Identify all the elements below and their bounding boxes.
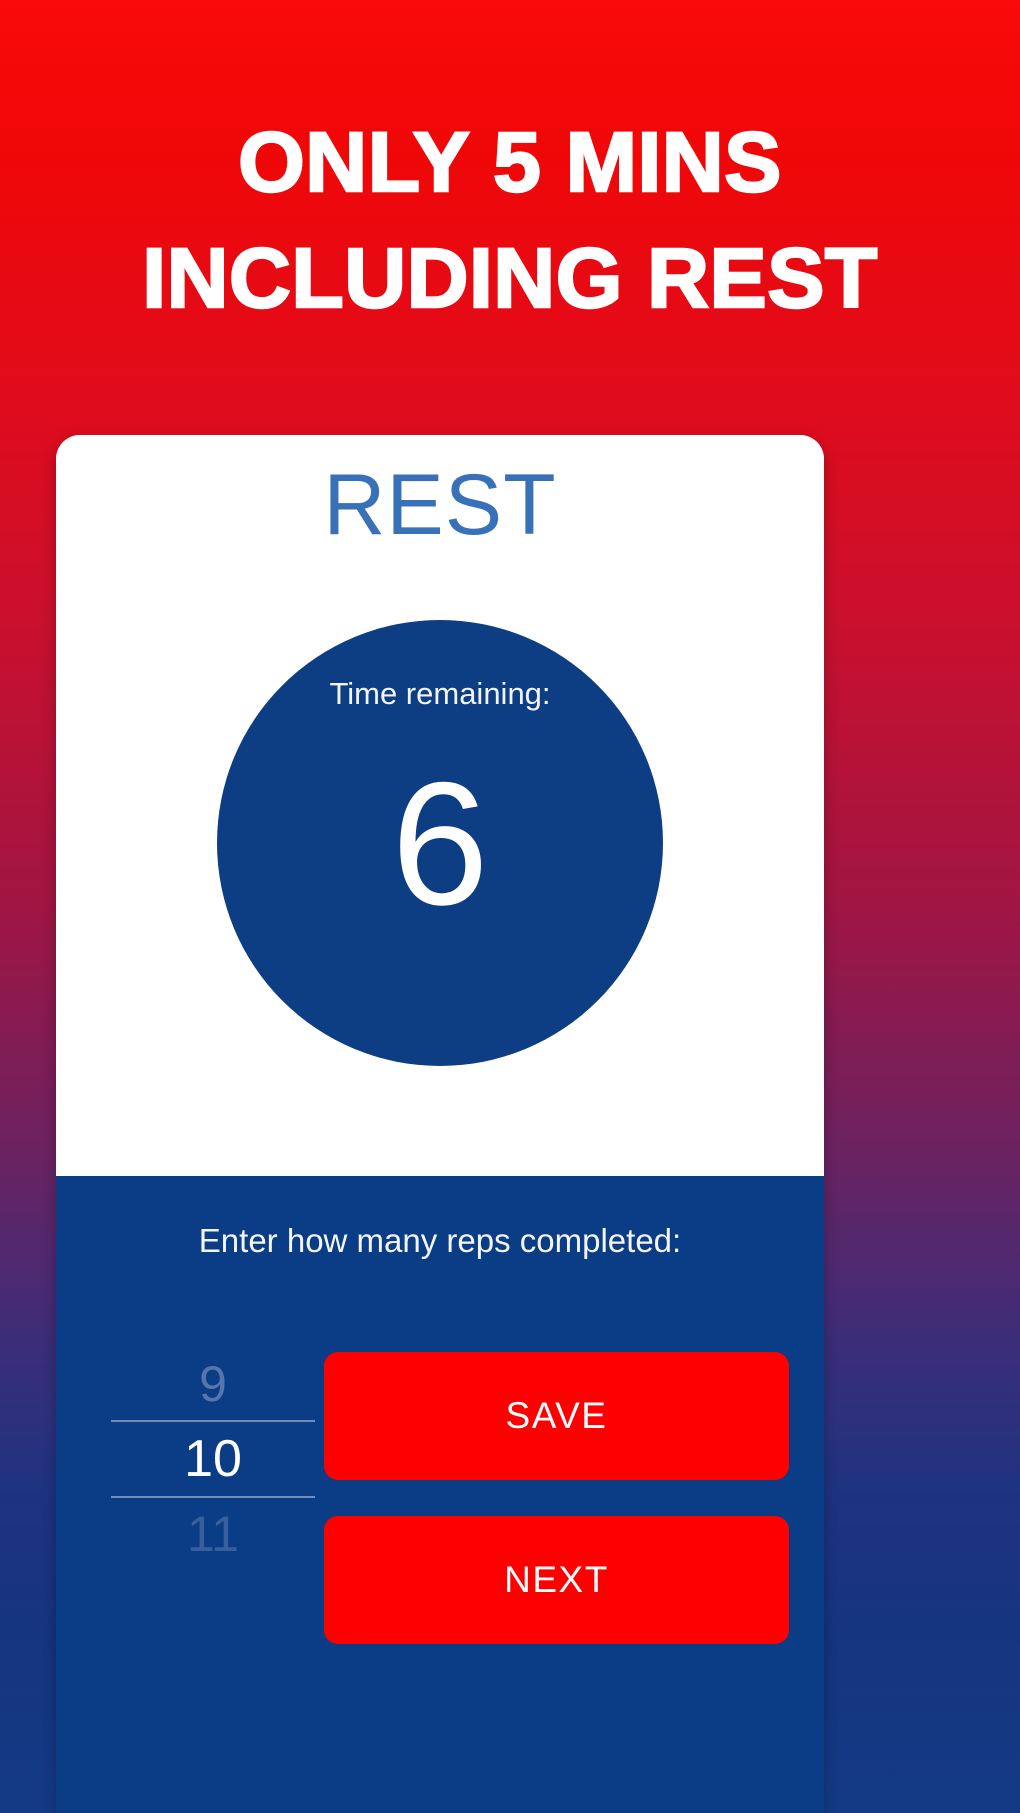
- picker-option-next[interactable]: 11: [111, 1498, 315, 1570]
- promo-headline: ONLY 5 MINS INCLUDING REST: [0, 0, 1020, 336]
- rest-timer-circle: Time remaining: 6: [217, 620, 663, 1066]
- save-button[interactable]: SAVE: [324, 1352, 789, 1480]
- reps-prompt-label: Enter how many reps completed:: [56, 1220, 824, 1262]
- reps-input-section: Enter how many reps completed: 9 10 11 S…: [56, 1176, 824, 1813]
- picker-option-previous[interactable]: 9: [111, 1348, 315, 1420]
- timer-countdown-value: 6: [217, 745, 663, 945]
- app-screen: ONLY 5 MINS INCLUDING REST REST Time rem…: [0, 0, 1020, 1813]
- headline-line-1: ONLY 5 MINS: [0, 104, 1020, 220]
- headline-line-2: INCLUDING REST: [0, 220, 1020, 336]
- workout-card: REST Time remaining: 6 Enter how many re…: [56, 435, 824, 1813]
- rest-section: REST Time remaining: 6: [56, 435, 824, 1176]
- reps-number-picker[interactable]: 9 10 11: [111, 1348, 315, 1778]
- timer-label: Time remaining:: [217, 675, 663, 713]
- next-button[interactable]: NEXT: [324, 1516, 789, 1644]
- rest-title: REST: [56, 455, 824, 555]
- picker-option-selected[interactable]: 10: [111, 1420, 315, 1498]
